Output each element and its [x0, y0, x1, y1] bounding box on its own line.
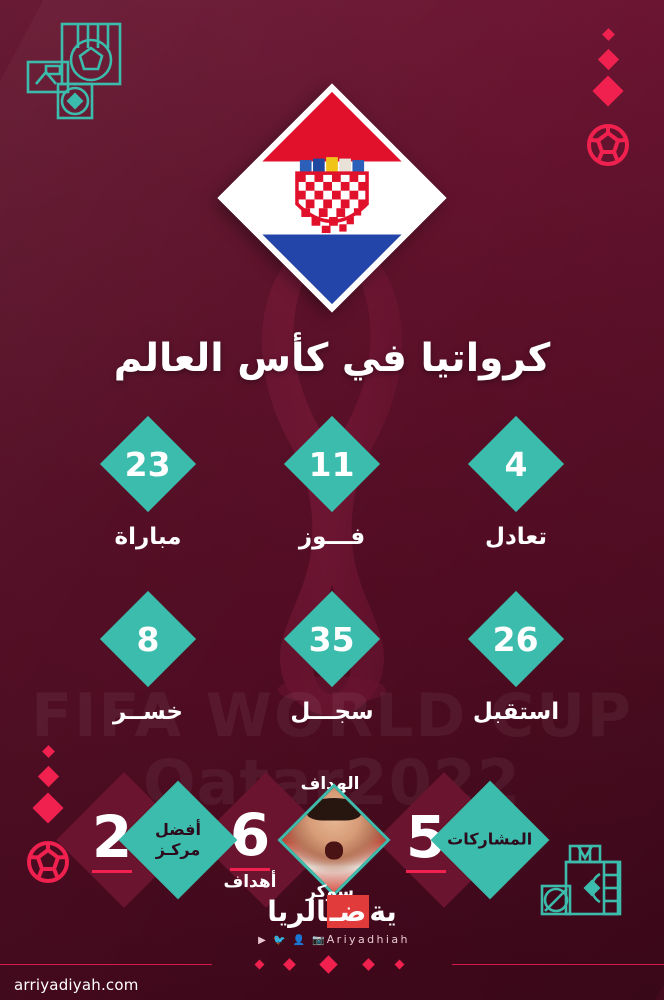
stat-value: 11 [309, 448, 355, 481]
brand-name-part3: ية [369, 895, 397, 928]
stat-value: 26 [493, 623, 539, 656]
decor-diamond-small [42, 745, 55, 758]
social-icons: ▶ 🐦 👤 📷 [258, 935, 327, 946]
stats-row-1: 23 مباراة 11 فـــوز 4 تعادل [0, 430, 664, 550]
flag-diamond-frame [217, 83, 446, 312]
decor-diamond-large [592, 75, 623, 106]
stat-goals-scored: 35 سجـــل [276, 605, 388, 725]
infographic-poster: FIFA WORLD CUP Qatar2022 [0, 0, 664, 1000]
best-position-label: أفضل مركـز [155, 820, 201, 860]
footer-diamond-4 [362, 958, 375, 971]
stat-goals-conceded: 26 استقبل [460, 605, 572, 725]
page-title: كرواتيا في كأس العالم [0, 336, 664, 381]
stat-label: تعادل [460, 524, 572, 550]
stat-label: مباراة [92, 524, 204, 550]
decoration-stack-top-right [586, 30, 630, 171]
brand-name: يةضـالريا [267, 898, 397, 926]
stat-label: خســر [92, 699, 204, 725]
stat-matches: 23 مباراة [92, 430, 204, 550]
footer-line-right [452, 964, 664, 965]
stat-value-diamond: 35 [284, 591, 380, 687]
stat-value-diamond: 8 [100, 591, 196, 687]
decor-diamond-small [602, 28, 615, 41]
soccer-ball-icon [586, 123, 630, 167]
participations-label: المشاركات [447, 830, 532, 850]
footer-diamond-2 [283, 958, 296, 971]
stat-draws: 4 تعادل [460, 430, 572, 550]
portrait-hair [307, 798, 360, 820]
stat-value: 23 [125, 448, 171, 481]
footer-line-left [0, 964, 212, 965]
footer-diamond-3 [319, 955, 337, 973]
stat-label: فـــوز [276, 524, 388, 550]
decor-diamond-medium [597, 49, 618, 70]
footer-divider [0, 956, 664, 972]
scorer-goals-number: 6 [230, 801, 270, 869]
stat-label: سجـــل [276, 699, 388, 725]
stat-label: استقبل [460, 699, 572, 725]
brand-social: ▶ 🐦 👤 📷Ariyadhiah [0, 933, 664, 946]
footer-diamond-5 [395, 960, 405, 970]
bottom-stats-row: 5 المشاركات 6 أهداف الهداف سوكر [0, 780, 664, 900]
footer-url[interactable]: arriyadiyah.com [14, 976, 139, 994]
croatia-flag-diamond [226, 86, 438, 298]
scorer-goals-label: أهداف [205, 872, 295, 892]
brand-logo[interactable]: يةضـالريا ▶ 🐦 👤 📷Ariyadhiah [0, 898, 664, 946]
stadium-ball-flag-icon [22, 22, 134, 126]
brand-name-part2: ضـ [327, 895, 370, 928]
croatia-flag [223, 88, 442, 307]
stat-losses: 8 خســر [92, 605, 204, 725]
stat-value-diamond: 26 [468, 591, 564, 687]
stat-value: 4 [505, 448, 528, 481]
portrait-mouth [325, 842, 343, 860]
stat-value: 8 [137, 623, 160, 656]
brand-handle: Ariyadhiah [327, 933, 410, 946]
footer-diamond-1 [255, 960, 265, 970]
stat-value-diamond: 23 [100, 416, 196, 512]
brand-name-part1: الريا [267, 895, 326, 928]
croatia-coat-of-arms-icon [294, 154, 370, 242]
stat-value: 35 [309, 623, 355, 656]
stat-wins: 11 فـــوز [276, 430, 388, 550]
stats-row-2: 8 خســر 35 سجـــل 26 استقبل [0, 605, 664, 725]
stat-value-diamond: 11 [284, 416, 380, 512]
stat-value-diamond: 4 [468, 416, 564, 512]
